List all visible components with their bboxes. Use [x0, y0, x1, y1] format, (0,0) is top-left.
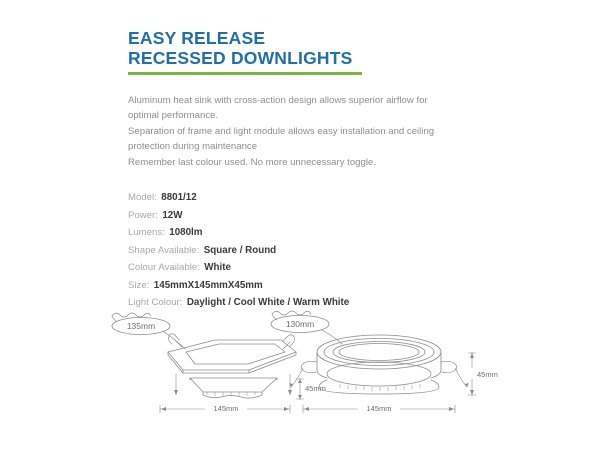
square-module-bottom	[203, 392, 262, 398]
spec-value: White	[204, 262, 231, 273]
specification-list: Model: 8801/12 Power: 12W Lumens: 1080lm…	[128, 188, 458, 311]
square-height-label: 45mm	[305, 384, 326, 393]
spec-row-shape-available: Shape Available: Square / Round	[128, 241, 458, 259]
round-spring-clip-right-icon	[441, 361, 457, 372]
drawings-svg: 135mm	[0, 300, 600, 435]
round-height-label: 45mm	[477, 370, 498, 379]
round-cutout-label: 130mm	[286, 319, 314, 329]
square-spring-clip-right-icon	[283, 335, 295, 346]
spec-value: 8801/12	[161, 192, 196, 203]
spec-label: Lumens:	[128, 227, 165, 238]
round-callout-leader-icon	[272, 311, 311, 315]
round-rim-mid	[324, 339, 434, 366]
round-aperture	[339, 344, 419, 361]
square-module-top	[190, 378, 277, 392]
round-flange	[319, 380, 439, 394]
spec-label: Power:	[128, 210, 158, 221]
page-title: EASY RELEASE RECESSED DOWNLIGHTS	[128, 28, 428, 75]
spec-row-size: Size: 145mmX145mmX45mm	[128, 276, 458, 294]
spec-label: Size:	[128, 280, 149, 291]
square-frame-inner	[186, 344, 285, 364]
heading-line-2: RECESSED DOWNLIGHTS	[128, 48, 428, 68]
technical-drawings: 135mm	[0, 300, 600, 435]
round-rim-outer	[317, 335, 441, 369]
spec-label: Colour Available:	[128, 262, 200, 273]
square-width-label: 145mm	[213, 404, 238, 413]
heading-underline	[128, 72, 362, 75]
spec-row-colour-available: Colour Available: White	[128, 258, 458, 276]
square-cutout-label: 135mm	[127, 321, 155, 331]
round-spring-clip-left-icon	[301, 361, 317, 372]
intro-paragraph-1: Aluminum heat sink with cross-action des…	[128, 93, 438, 124]
spec-row-power: Power: 12W	[128, 206, 458, 224]
spec-value: 145mmX145mmX45mm	[154, 280, 263, 291]
round-downlight-diagram: 130mm	[271, 311, 498, 414]
intro-paragraph-2: Separation of frame and light module all…	[128, 124, 438, 155]
spec-value: Square / Round	[204, 245, 276, 256]
spec-label: Shape Available:	[128, 245, 199, 256]
spec-row-lumens: Lumens: 1080lm	[128, 223, 458, 241]
intro-paragraph-3: Remember last colour used. No more unnec…	[128, 155, 438, 170]
product-spec-sheet: EASY RELEASE RECESSED DOWNLIGHTS Aluminu…	[0, 0, 600, 450]
spec-row-model: Model: 8801/12	[128, 188, 458, 206]
spec-label: Model:	[128, 192, 157, 203]
square-callout-leader-icon	[112, 313, 151, 317]
round-width-label: 145mm	[366, 404, 391, 413]
intro-description: Aluminum heat sink with cross-action des…	[128, 93, 438, 170]
spec-value: 12W	[162, 210, 182, 221]
spec-value: 1080lm	[169, 227, 202, 238]
round-rim-inner	[333, 342, 425, 363]
heading-line-1: EASY RELEASE	[128, 28, 428, 48]
round-callout-line	[322, 330, 342, 344]
